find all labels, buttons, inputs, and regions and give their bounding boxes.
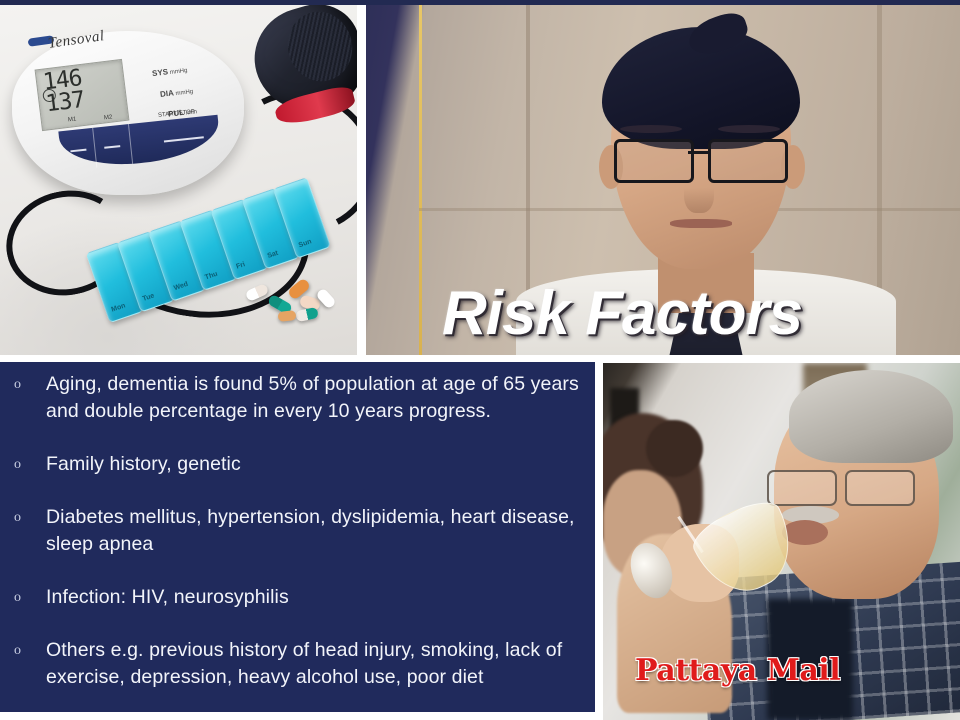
woman-hair-bun: [646, 420, 703, 477]
eyebrow-left: [620, 125, 682, 133]
lens-left: [767, 470, 837, 506]
bp-button-label-m2: M2: [104, 115, 113, 122]
list-item: o Aging, dementia is found 5% of populat…: [14, 371, 589, 425]
nose: [684, 171, 714, 213]
list-item-label: Family history, genetic: [46, 451, 589, 478]
pillbox-day-label: Mon: [111, 302, 127, 313]
button-seam-2: [128, 124, 133, 164]
list-item-label: Aging, dementia is found 5% of populatio…: [46, 371, 589, 425]
man-eyeglasses: [767, 470, 917, 502]
list-item: o Family history, genetic: [14, 451, 589, 478]
bp-reading-diastolic: 137: [45, 89, 86, 117]
bp-lcd-screen: 146 137: [35, 59, 130, 131]
eyebrow-right: [718, 125, 780, 133]
wall-yellow-strip: [419, 5, 422, 355]
button-dash-2: [104, 145, 120, 149]
bullet-circle-icon: o: [14, 637, 46, 664]
blood-pressure-monitor-photo: Tensoval 146 137 SYS mmHg DIA mmHg PUL /…: [0, 5, 357, 355]
risk-factors-list: o Aging, dementia is found 5% of populat…: [0, 362, 595, 712]
button-dash-3: [164, 136, 204, 142]
pillbox-day-label: Tue: [142, 292, 156, 303]
lens-right: [845, 470, 915, 506]
pillbox-day-label: Fri: [235, 261, 246, 271]
risk-factors-panel: o Aging, dementia is found 5% of populat…: [0, 362, 595, 712]
bullet-circle-icon: o: [14, 584, 46, 611]
man-hair: [789, 370, 953, 463]
button-dash-1: [70, 149, 86, 153]
bullet-circle-icon: o: [14, 504, 46, 531]
glasses-bridge: [688, 151, 708, 154]
lens-left: [614, 139, 694, 183]
bullet-circle-icon: o: [14, 371, 46, 398]
bullet-circle-icon: o: [14, 451, 46, 478]
pillbox-day-label: Wed: [173, 281, 189, 292]
list-item-label: Others e.g. previous history of head inj…: [46, 637, 589, 691]
list-item: o Others e.g. previous history of head i…: [14, 637, 589, 691]
page-title: Risk Factors: [442, 283, 802, 345]
pillbox-day-label: Thu: [204, 271, 218, 282]
wine-drinker-photo: Pattaya Mail: [603, 363, 960, 720]
list-item-label: Diabetes mellitus, hypertension, dyslipi…: [46, 504, 589, 558]
list-item-label: Infection: HIV, neurosyphilis: [46, 584, 589, 611]
cuff-texture: [280, 5, 357, 89]
mouth: [670, 219, 732, 228]
lens-right: [708, 139, 788, 183]
pillbox-day-label: Sat: [267, 250, 280, 260]
list-item: o Diabetes mellitus, hypertension, dysli…: [14, 504, 589, 558]
list-item: o Infection: HIV, neurosyphilis: [14, 584, 589, 611]
pattaya-mail-watermark: Pattaya Mail: [635, 653, 840, 688]
bp-label-dia-text: DIA: [160, 88, 175, 99]
slide-canvas: Tensoval 146 137 SYS mmHg DIA mmHg PUL /…: [0, 0, 960, 720]
bp-button-label-m1: M1: [68, 117, 77, 124]
pillbox-day-label: Sun: [298, 238, 313, 249]
